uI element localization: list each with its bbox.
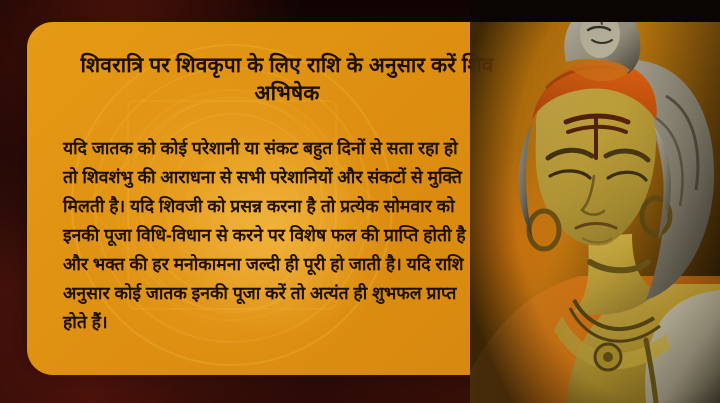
body-line-7: होते हैं। [63,308,533,337]
body-text: यदि जातक को कोई परेशानी या संकट बहुत दिन… [63,134,533,337]
title-line-1: शिवरात्रि पर शिवकृपा के लिए राशि के [80,54,362,77]
artwork-vignette [470,0,720,403]
body-line-3: मिलती है। यदि शिवजी को प्रसन्न करना है त… [63,192,533,221]
body-line-4: इनकी पूजा विधि-विधान से करने पर विशेष फल… [63,221,533,250]
artwork-top-band [470,0,720,22]
body-line-5: और भक्त की हर मनोकामना जल्दी ही पूरी हो … [63,250,533,279]
body-line-6: अनुसार कोई जातक इनकी पूजा करें तो अत्यंत… [63,279,533,308]
poster-canvas: शिवरात्रि पर शिवकृपा के लिए राशि के अनुस… [0,0,720,403]
shiva-artwork [470,0,720,403]
body-line-1: यदि जातक को कोई परेशानी या संकट बहुत दिन… [63,134,533,163]
shiva-illustration [470,0,720,403]
page-title: शिवरात्रि पर शिवकृपा के लिए राशि के अनुस… [67,52,507,107]
body-line-2: तो शिवशंभु की आराधना से सभी परेशानियों औ… [63,163,533,192]
